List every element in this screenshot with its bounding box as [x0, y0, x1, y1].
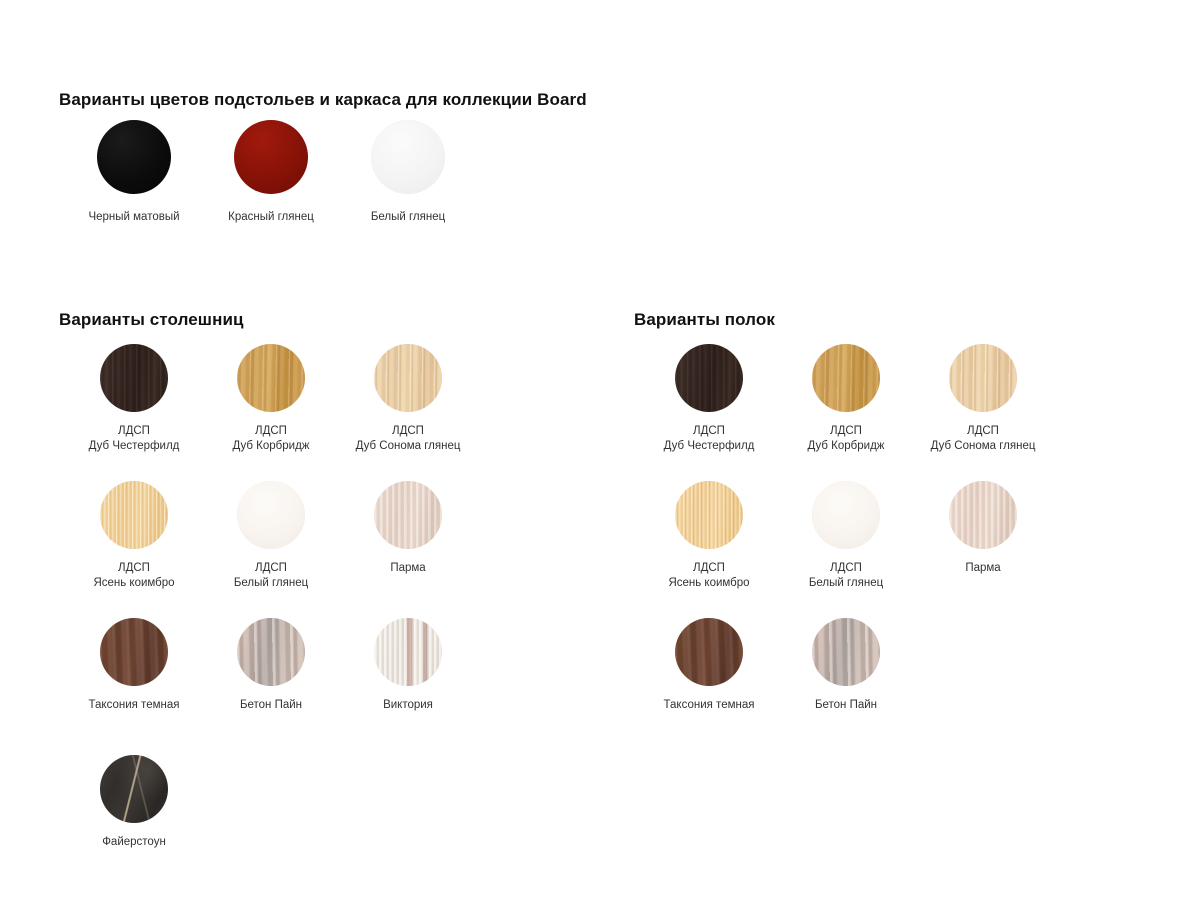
swatch-label-primary: Файерстоун — [59, 835, 209, 850]
swatch-label-secondary: Дуб Честерфилд — [59, 439, 209, 454]
swatch-disc-wrap — [196, 120, 346, 200]
swatch-caption: Красный глянец — [196, 210, 346, 225]
swatch-corbridge-icon[interactable] — [237, 344, 305, 412]
swatch-item[interactable]: Бетон Пайн — [771, 618, 921, 713]
swatch-texture — [100, 344, 168, 412]
swatch-label-primary: ЛДСП — [196, 561, 346, 576]
swatch-caption: ЛДСПДуб Сонома глянец — [908, 424, 1058, 454]
swatch-caption: ЛДСПДуб Честерфилд — [59, 424, 209, 454]
swatch-texture — [949, 481, 1017, 549]
swatch-item[interactable]: ЛДСПЯсень коимбро — [634, 481, 784, 591]
swatch-caption: ЛДСПДуб Корбридж — [771, 424, 921, 454]
swatch-white-lam-icon[interactable] — [237, 481, 305, 549]
swatch-item[interactable]: Красный глянец — [196, 120, 346, 225]
swatch-label-primary: Таксония темная — [634, 698, 784, 713]
swatch-item[interactable]: ЛДСПДуб Честерфилд — [634, 344, 784, 454]
swatch-sonoma-icon[interactable] — [374, 344, 442, 412]
swatch-label-primary: ЛДСП — [771, 561, 921, 576]
swatch-texture — [237, 344, 305, 412]
swatch-texture — [237, 481, 305, 549]
swatch-disc-wrap — [59, 618, 209, 688]
swatch-victoria-icon[interactable] — [374, 618, 442, 686]
swatch-texture — [100, 618, 168, 686]
swatch-label-secondary: Дуб Корбридж — [196, 439, 346, 454]
swatch-item[interactable]: Бетон Пайн — [196, 618, 346, 713]
swatch-caption: Виктория — [333, 698, 483, 713]
swatch-label-secondary: Дуб Честерфилд — [634, 439, 784, 454]
swatch-taxonia-icon[interactable] — [100, 618, 168, 686]
swatch-coimbra-icon[interactable] — [100, 481, 168, 549]
swatch-caption: ЛДСПДуб Корбридж — [196, 424, 346, 454]
swatch-texture — [234, 120, 308, 194]
swatch-label-primary: ЛДСП — [634, 561, 784, 576]
swatch-firestone-icon[interactable] — [100, 755, 168, 823]
swatch-caption: ЛДСПЯсень коимбро — [59, 561, 209, 591]
swatch-caption: ЛДСПБелый глянец — [196, 561, 346, 591]
swatch-caption: Бетон Пайн — [196, 698, 346, 713]
swatch-label-secondary: Ясень коимбро — [634, 576, 784, 591]
swatch-disc-wrap — [196, 618, 346, 688]
swatch-label-primary: Бетон Пайн — [771, 698, 921, 713]
swatch-label-secondary: Дуб Корбридж — [771, 439, 921, 454]
swatch-disc-wrap — [771, 344, 921, 414]
swatch-disc-wrap — [59, 481, 209, 551]
swatch-caption: Парма — [333, 561, 483, 576]
swatch-texture — [949, 344, 1017, 412]
swatch-label-primary: Черный матовый — [59, 210, 209, 225]
swatch-caption: Таксония темная — [59, 698, 209, 713]
swatch-item[interactable]: ЛДСПДуб Честерфилд — [59, 344, 209, 454]
swatch-item[interactable]: ЛДСПДуб Сонома глянец — [908, 344, 1058, 454]
swatch-caption: Таксония темная — [634, 698, 784, 713]
swatch-texture — [374, 618, 442, 686]
swatch-label-primary: Бетон Пайн — [196, 698, 346, 713]
swatch-label-primary: ЛДСП — [59, 561, 209, 576]
swatch-coimbra-icon[interactable] — [675, 481, 743, 549]
swatch-disc-wrap — [634, 344, 784, 414]
swatch-item[interactable]: ЛДСПДуб Корбридж — [196, 344, 346, 454]
swatch-disc-wrap — [59, 344, 209, 414]
swatch-white-lam-icon[interactable] — [812, 481, 880, 549]
swatch-label-primary: ЛДСП — [634, 424, 784, 439]
swatch-item[interactable]: ЛДСПДуб Сонома глянец — [333, 344, 483, 454]
swatch-beton-icon[interactable] — [237, 618, 305, 686]
swatch-item[interactable]: Файерстоун — [59, 755, 209, 850]
swatch-black-matte-icon[interactable] — [97, 120, 171, 194]
swatch-texture — [371, 120, 445, 194]
swatch-disc-wrap — [771, 618, 921, 688]
swatch-disc-wrap — [196, 481, 346, 551]
swatch-caption: ЛДСПДуб Сонома глянец — [333, 424, 483, 454]
swatch-disc-wrap — [333, 344, 483, 414]
color-options-page: Варианты цветов подстольев и каркаса для… — [0, 0, 1200, 900]
swatch-item[interactable]: Виктория — [333, 618, 483, 713]
swatch-texture — [675, 344, 743, 412]
swatch-item[interactable]: Белый глянец — [333, 120, 483, 225]
swatch-caption: ЛДСПДуб Честерфилд — [634, 424, 784, 454]
swatch-label-secondary: Ясень коимбро — [59, 576, 209, 591]
swatch-texture — [237, 618, 305, 686]
swatch-disc-wrap — [333, 618, 483, 688]
swatch-parma-icon[interactable] — [949, 481, 1017, 549]
swatch-chesterfield-icon[interactable] — [100, 344, 168, 412]
swatch-caption: Черный матовый — [59, 210, 209, 225]
section-title-tabletops: Варианты столешниц — [59, 310, 244, 330]
swatch-label-secondary: Белый глянец — [771, 576, 921, 591]
swatch-item[interactable]: ЛДСПЯсень коимбро — [59, 481, 209, 591]
swatch-caption: ЛДСПБелый глянец — [771, 561, 921, 591]
swatch-texture — [97, 120, 171, 194]
swatch-label-secondary: Дуб Сонома глянец — [333, 439, 483, 454]
swatch-item[interactable]: ЛДСПБелый глянец — [196, 481, 346, 591]
swatch-texture — [374, 481, 442, 549]
swatch-disc-wrap — [908, 481, 1058, 551]
swatch-label-primary: ЛДСП — [59, 424, 209, 439]
swatch-item[interactable]: Таксония темная — [634, 618, 784, 713]
swatch-texture — [675, 618, 743, 686]
swatch-texture — [374, 344, 442, 412]
swatch-caption: Белый глянец — [333, 210, 483, 225]
swatch-texture — [100, 481, 168, 549]
swatch-texture — [812, 344, 880, 412]
swatch-white-gloss-icon[interactable] — [371, 120, 445, 194]
swatch-label-primary: ЛДСП — [771, 424, 921, 439]
swatch-label-primary: Красный глянец — [196, 210, 346, 225]
swatch-item[interactable]: Таксония темная — [59, 618, 209, 713]
swatch-caption: Файерстоун — [59, 835, 209, 850]
swatch-item[interactable]: Парма — [333, 481, 483, 576]
swatch-chesterfield-icon[interactable] — [675, 344, 743, 412]
page-title: Варианты цветов подстольев и каркаса для… — [59, 90, 587, 110]
swatch-disc-wrap — [196, 344, 346, 414]
swatch-red-gloss-icon[interactable] — [234, 120, 308, 194]
swatch-caption: ЛДСПЯсень коимбро — [634, 561, 784, 591]
swatch-corbridge-icon[interactable] — [812, 344, 880, 412]
swatch-caption: Парма — [908, 561, 1058, 576]
swatch-texture — [675, 481, 743, 549]
swatch-label-primary: ЛДСП — [333, 424, 483, 439]
swatch-label-secondary: Белый глянец — [196, 576, 346, 591]
swatch-disc-wrap — [333, 481, 483, 551]
swatch-label-primary: Белый глянец — [333, 210, 483, 225]
swatch-label-secondary: Дуб Сонома глянец — [908, 439, 1058, 454]
swatch-label-primary: Таксония темная — [59, 698, 209, 713]
swatch-disc-wrap — [908, 344, 1058, 414]
swatch-item[interactable]: ЛДСПДуб Корбридж — [771, 344, 921, 454]
swatch-taxonia-icon[interactable] — [675, 618, 743, 686]
swatch-caption: Бетон Пайн — [771, 698, 921, 713]
swatch-disc-wrap — [59, 755, 209, 825]
swatch-disc-wrap — [634, 481, 784, 551]
swatch-label-primary: Парма — [333, 561, 483, 576]
swatch-label-primary: Парма — [908, 561, 1058, 576]
swatch-label-primary: ЛДСП — [908, 424, 1058, 439]
swatch-sonoma-icon[interactable] — [949, 344, 1017, 412]
swatch-texture — [100, 755, 168, 823]
swatch-disc-wrap — [59, 120, 209, 200]
swatch-item[interactable]: Парма — [908, 481, 1058, 576]
swatch-beton-icon[interactable] — [812, 618, 880, 686]
swatch-label-primary: Виктория — [333, 698, 483, 713]
section-title-shelves: Варианты полок — [634, 310, 775, 330]
swatch-item[interactable]: Черный матовый — [59, 120, 209, 225]
swatch-disc-wrap — [634, 618, 784, 688]
swatch-item[interactable]: ЛДСПБелый глянец — [771, 481, 921, 591]
swatch-disc-wrap — [333, 120, 483, 200]
swatch-disc-wrap — [771, 481, 921, 551]
swatch-texture — [812, 618, 880, 686]
swatch-parma-icon[interactable] — [374, 481, 442, 549]
swatch-label-primary: ЛДСП — [196, 424, 346, 439]
swatch-texture — [812, 481, 880, 549]
